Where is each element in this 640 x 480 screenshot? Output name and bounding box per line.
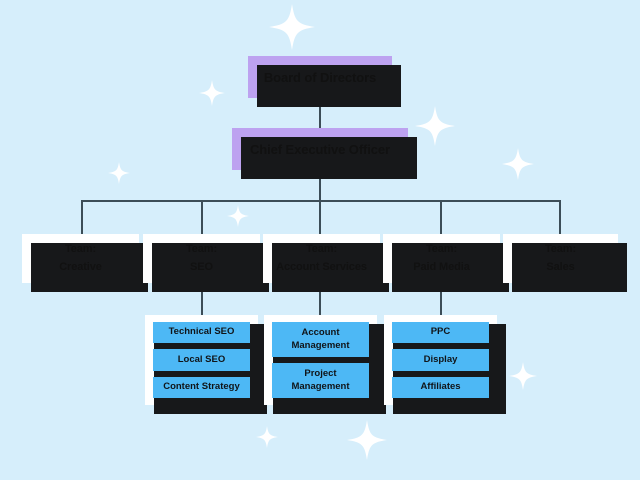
subgroup-seo: Technical SEO Local SEO Content Strategy [145,315,258,405]
node-team-account-services-line1: Team: [306,241,337,258]
sparkle-upper-right-icon [415,106,455,146]
sparkle-mid-left-icon [108,162,130,184]
node-team-seo[interactable]: Team: SEO [143,234,260,283]
node-team-account-services-line2: Account Services [276,259,367,276]
node-chief-executive-officer-label: Chief Executive Officer [250,142,390,157]
sparkle-bottom-center-icon [347,420,387,460]
node-affiliates[interactable]: Affiliates [392,377,489,398]
sparkle-lower-right-icon [509,362,537,390]
sparkle-top-center-icon [269,4,315,50]
node-account-management[interactable]: Account Management [272,322,369,357]
connector-bus-to-paid-media [440,200,442,234]
node-chief-executive-officer[interactable]: Chief Executive Officer [232,128,408,170]
node-team-sales-line2: Sales [546,259,574,276]
node-team-paid-media[interactable]: Team: Paid Media [383,234,500,283]
node-team-creative-line1: Team: [65,241,96,258]
node-local-seo[interactable]: Local SEO [153,349,250,370]
node-team-account-services[interactable]: Team: Account Services [263,234,380,283]
node-team-seo-line2: SEO [190,259,213,276]
node-team-sales-line1: Team: [545,241,576,258]
connector-bus-to-seo [201,200,203,234]
connector-bus-to-creative [81,200,83,234]
sparkle-upper-left-icon [199,80,225,106]
node-board-of-directors[interactable]: Board of Directors [248,56,392,98]
node-project-management[interactable]: Project Management [272,363,369,398]
node-display[interactable]: Display [392,349,489,370]
subgroup-paid-media: PPC Display Affiliates [384,315,497,405]
connector-bus-to-sales [559,200,561,234]
node-team-paid-media-line1: Team: [426,241,457,258]
node-ppc[interactable]: PPC [392,322,489,343]
connector-bus-to-account-services [319,200,321,234]
node-technical-seo[interactable]: Technical SEO [153,322,250,343]
node-team-paid-media-line2: Paid Media [413,259,469,276]
sparkle-bus-center-icon [227,205,249,227]
node-team-seo-line1: Team: [186,241,217,258]
node-team-creative[interactable]: Team: Creative [22,234,139,283]
org-chart-canvas: Board of Directors Chief Executive Offic… [0,0,640,480]
node-team-sales[interactable]: Team: Sales [503,234,618,283]
node-board-of-directors-label: Board of Directors [264,70,376,85]
node-team-creative-line2: Creative [59,259,102,276]
sparkle-mid-right-icon [502,148,534,180]
subgroup-account-services: Account Management Project Management [264,315,377,405]
node-content-strategy[interactable]: Content Strategy [153,377,250,398]
sparkle-bottom-left-icon [256,426,278,448]
